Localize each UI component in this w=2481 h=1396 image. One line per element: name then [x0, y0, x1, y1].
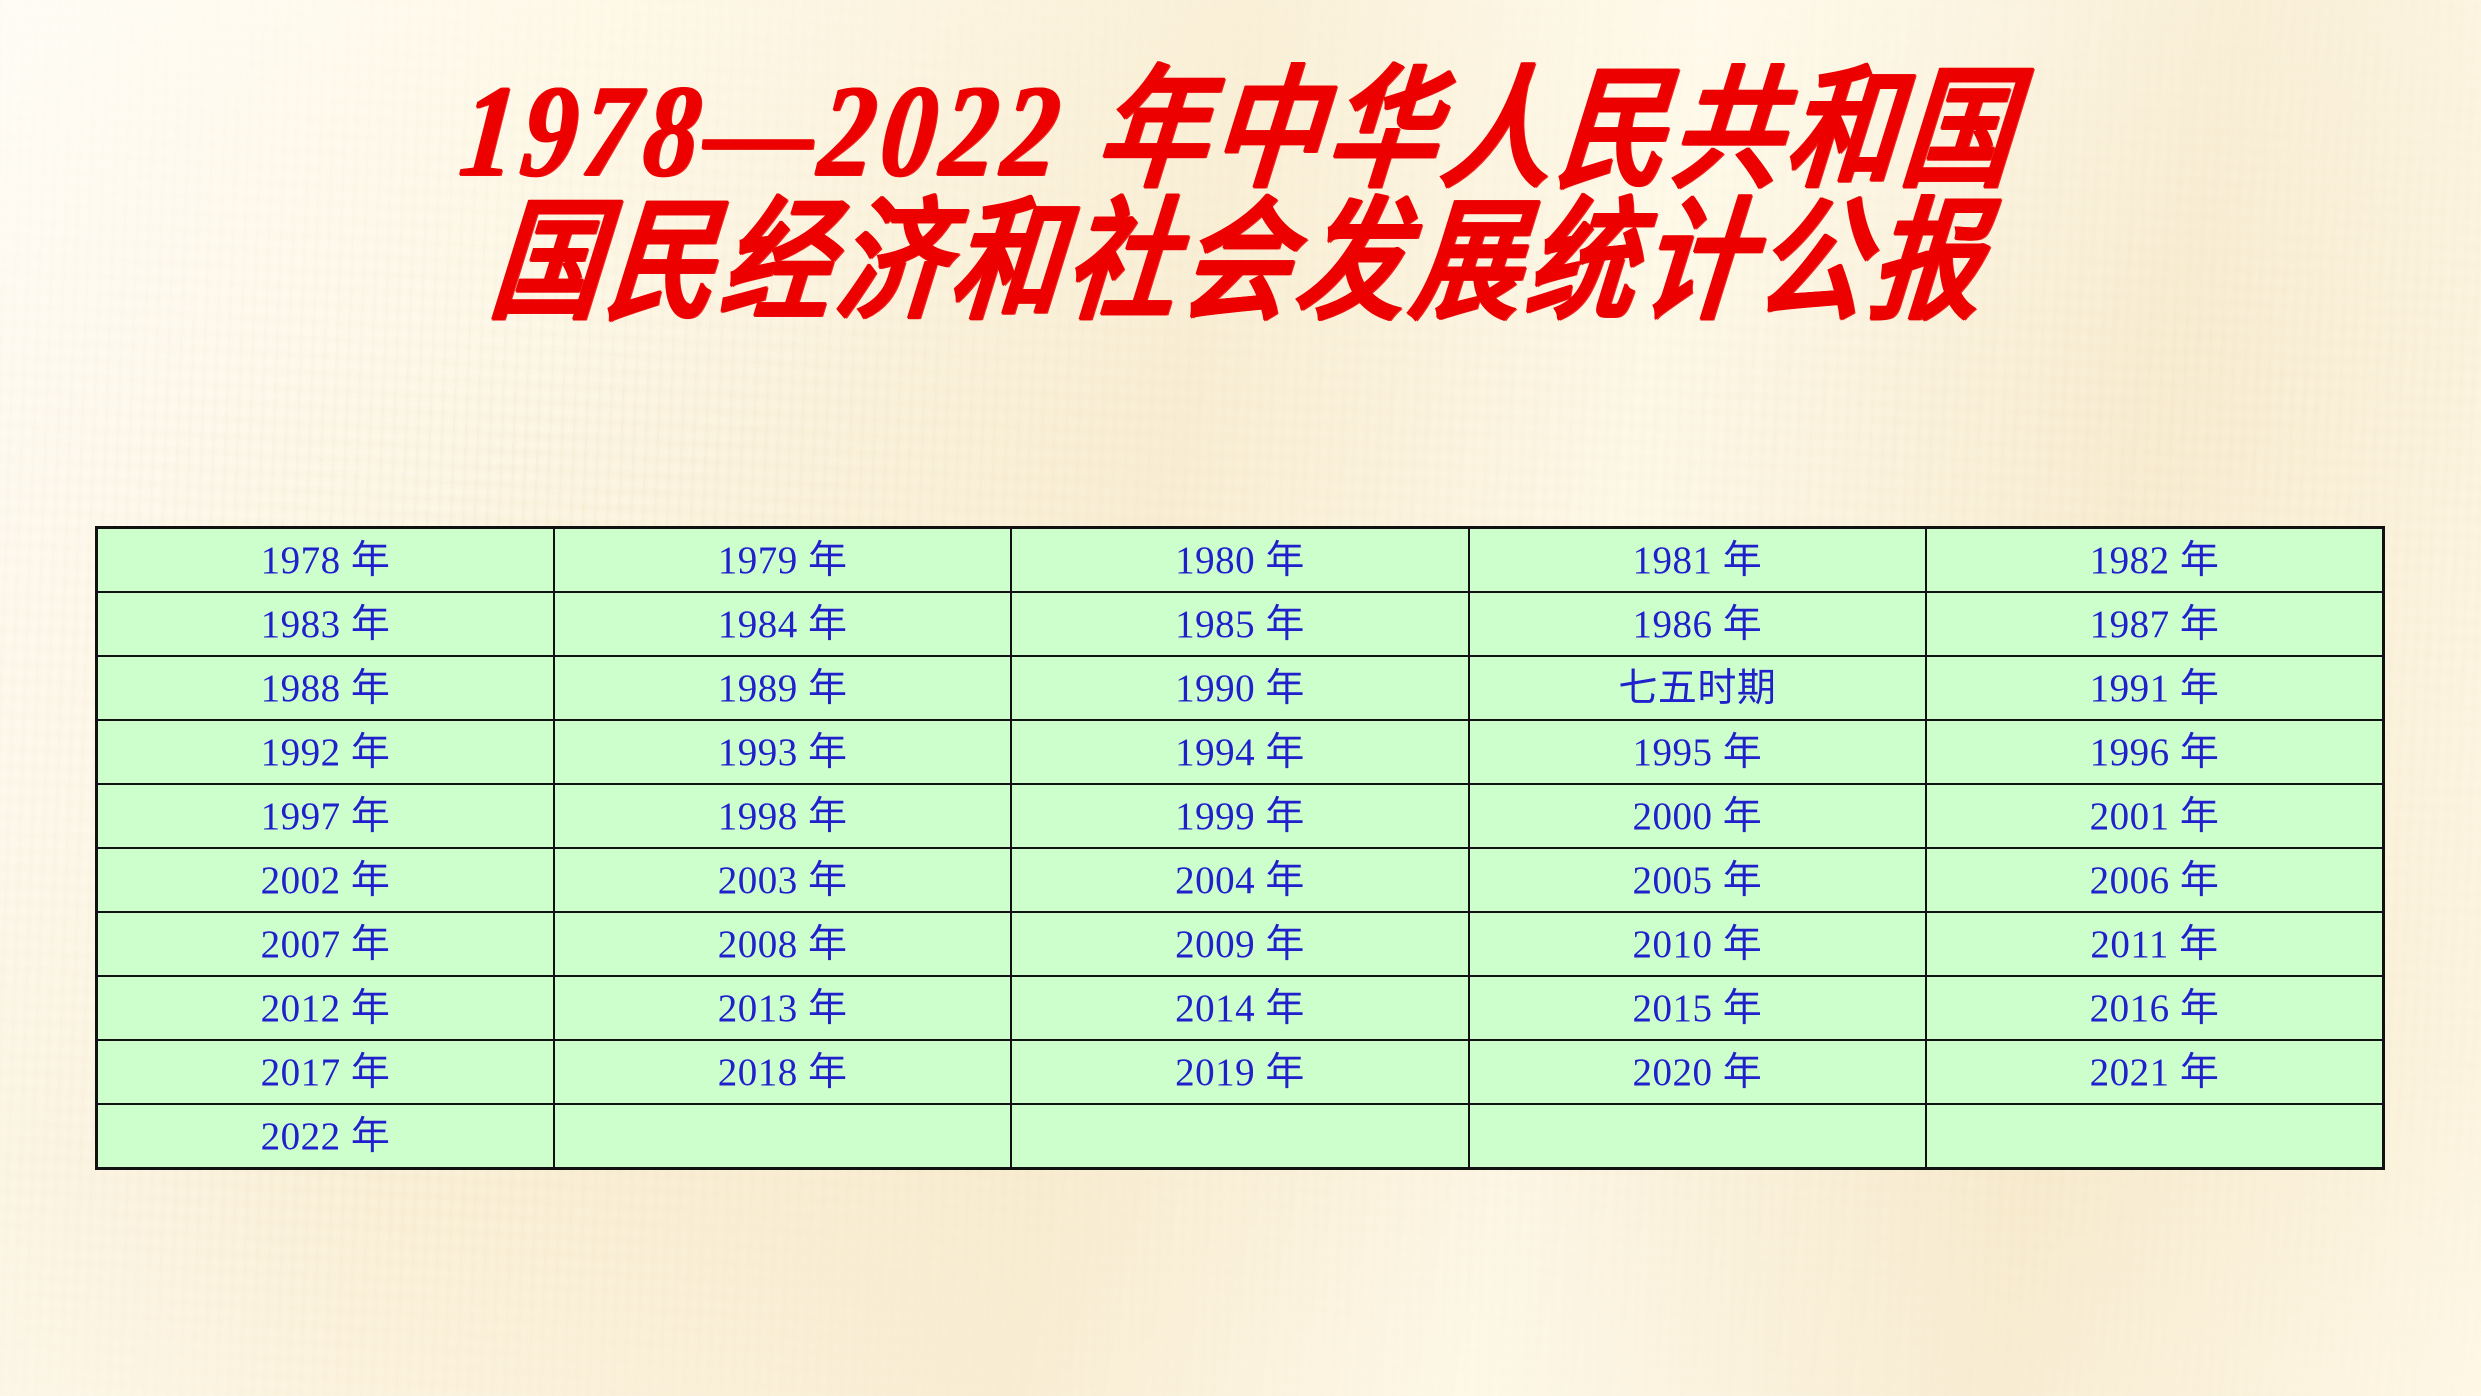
title-line-2: 国民经济和社会发展统计公报	[0, 198, 2481, 330]
year-cell[interactable]: 1991 年	[1926, 656, 2383, 720]
year-cell[interactable]: 2001 年	[1926, 784, 2383, 848]
table-row: 2007 年2008 年2009 年2010 年2011 年	[97, 912, 2384, 976]
year-cell[interactable]: 1997 年	[97, 784, 554, 848]
year-cell[interactable]: 1996 年	[1926, 720, 2383, 784]
year-cell[interactable]: 2004 年	[1011, 848, 1468, 912]
year-cell[interactable]: 1978 年	[97, 528, 554, 593]
year-cell[interactable]: 1984 年	[554, 592, 1011, 656]
title-line-1: 1978—2022 年中华人民共和国	[0, 66, 2481, 198]
year-cell[interactable]: 2016 年	[1926, 976, 2383, 1040]
table-row: 2012 年2013 年2014 年2015 年2016 年	[97, 976, 2384, 1040]
year-cell[interactable]: 1988 年	[97, 656, 554, 720]
year-cell-empty	[1011, 1104, 1468, 1169]
year-cell[interactable]: 1985 年	[1011, 592, 1468, 656]
page-root: 1978—2022 年中华人民共和国 国民经济和社会发展统计公报 1978 年1…	[0, 0, 2481, 1396]
table-row: 1997 年1998 年1999 年2000 年2001 年	[97, 784, 2384, 848]
year-cell[interactable]: 1994 年	[1011, 720, 1468, 784]
year-cell[interactable]: 1995 年	[1469, 720, 1926, 784]
year-cell[interactable]: 2007 年	[97, 912, 554, 976]
year-cell[interactable]: 2013 年	[554, 976, 1011, 1040]
year-cell[interactable]: 1993 年	[554, 720, 1011, 784]
year-cell[interactable]: 1986 年	[1469, 592, 1926, 656]
year-cell-empty	[554, 1104, 1011, 1169]
year-cell[interactable]: 2003 年	[554, 848, 1011, 912]
year-cell[interactable]: 2002 年	[97, 848, 554, 912]
year-cell[interactable]: 2010 年	[1469, 912, 1926, 976]
year-cell[interactable]: 1982 年	[1926, 528, 2383, 593]
year-cell[interactable]: 1999 年	[1011, 784, 1468, 848]
year-cell[interactable]: 2000 年	[1469, 784, 1926, 848]
year-cell[interactable]: 2021 年	[1926, 1040, 2383, 1104]
year-cell[interactable]: 1998 年	[554, 784, 1011, 848]
document-title: 1978—2022 年中华人民共和国 国民经济和社会发展统计公报	[0, 78, 2481, 318]
year-cell[interactable]: 1983 年	[97, 592, 554, 656]
year-index-table-container: 1978 年1979 年1980 年1981 年1982 年1983 年1984…	[95, 526, 2385, 1170]
table-row: 1978 年1979 年1980 年1981 年1982 年	[97, 528, 2384, 593]
year-cell-empty	[1926, 1104, 2383, 1169]
table-row: 1988 年1989 年1990 年七五时期1991 年	[97, 656, 2384, 720]
year-cell-empty	[1469, 1104, 1926, 1169]
year-cell[interactable]: 2019 年	[1011, 1040, 1468, 1104]
year-cell[interactable]: 1981 年	[1469, 528, 1926, 593]
year-cell[interactable]: 七五时期	[1469, 656, 1926, 720]
table-row: 2017 年2018 年2019 年2020 年2021 年	[97, 1040, 2384, 1104]
year-cell[interactable]: 2015 年	[1469, 976, 1926, 1040]
year-cell[interactable]: 1979 年	[554, 528, 1011, 593]
year-cell[interactable]: 2022 年	[97, 1104, 554, 1169]
year-index-table: 1978 年1979 年1980 年1981 年1982 年1983 年1984…	[95, 526, 2385, 1170]
year-cell[interactable]: 1980 年	[1011, 528, 1468, 593]
year-table-body: 1978 年1979 年1980 年1981 年1982 年1983 年1984…	[97, 528, 2384, 1169]
year-cell[interactable]: 2014 年	[1011, 976, 1468, 1040]
year-cell[interactable]: 2011 年	[1926, 912, 2383, 976]
year-cell[interactable]: 1990 年	[1011, 656, 1468, 720]
year-cell[interactable]: 2006 年	[1926, 848, 2383, 912]
year-cell[interactable]: 2018 年	[554, 1040, 1011, 1104]
year-cell[interactable]: 2009 年	[1011, 912, 1468, 976]
year-cell[interactable]: 2012 年	[97, 976, 554, 1040]
table-row: 1983 年1984 年1985 年1986 年1987 年	[97, 592, 2384, 656]
year-cell[interactable]: 1989 年	[554, 656, 1011, 720]
year-cell[interactable]: 2005 年	[1469, 848, 1926, 912]
year-cell[interactable]: 2008 年	[554, 912, 1011, 976]
table-row: 1992 年1993 年1994 年1995 年1996 年	[97, 720, 2384, 784]
table-row: 2022 年	[97, 1104, 2384, 1169]
year-cell[interactable]: 2017 年	[97, 1040, 554, 1104]
year-cell[interactable]: 1987 年	[1926, 592, 2383, 656]
year-cell[interactable]: 2020 年	[1469, 1040, 1926, 1104]
table-row: 2002 年2003 年2004 年2005 年2006 年	[97, 848, 2384, 912]
year-cell[interactable]: 1992 年	[97, 720, 554, 784]
